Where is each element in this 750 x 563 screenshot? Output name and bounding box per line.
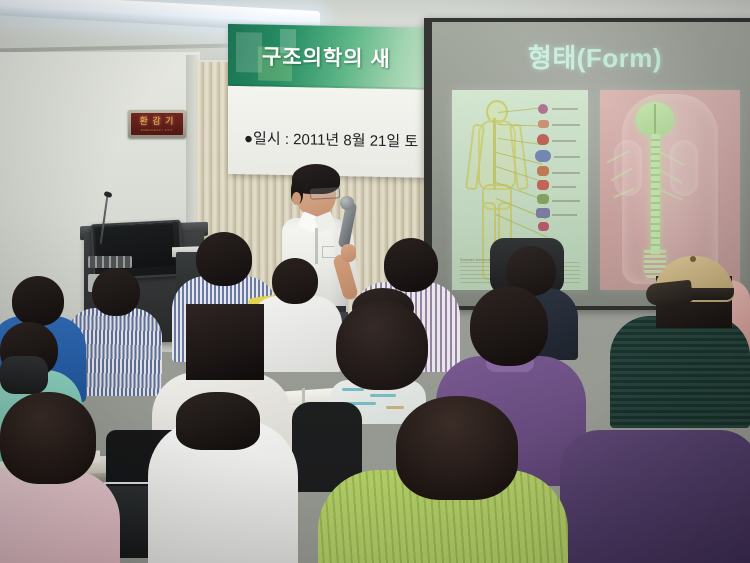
- scarf-motif: [386, 406, 404, 409]
- wall-sign-sublabel: EMERGENCY EXIT: [141, 128, 173, 132]
- attendee-blue-shirt-head: [12, 276, 64, 326]
- attendee-white-top-head: [186, 304, 264, 380]
- wall-sign-label: 환 감 기: [140, 117, 175, 126]
- wall-sign-panel: 환 감 기 EMERGENCY EXIT: [131, 113, 183, 135]
- chair-back-left: [0, 356, 48, 394]
- attendee-green-stripe-body: [610, 316, 750, 428]
- wall-sign: 환 감 기 EMERGENCY EXIT: [128, 110, 186, 138]
- attendee-striped-back-head: [196, 232, 252, 286]
- attendee-green-shirt-head: [396, 396, 518, 500]
- speaker-ear: [292, 192, 301, 205]
- banner-date-line: ●일시 : 2011년 8월 21일 토: [244, 127, 454, 152]
- speaker-shirt-placket: [315, 228, 318, 264]
- attendee-purple-shirt-head: [470, 286, 548, 366]
- attendee-checked-shirt-head: [384, 238, 438, 292]
- speaker-glasses-icon: [310, 187, 341, 200]
- speaker-hand: [341, 244, 356, 262]
- lectern-control-knobs: [88, 256, 132, 268]
- attendee-scarf-woman-head: [336, 300, 428, 390]
- attendee-purple-foreground-body: [560, 430, 750, 563]
- scarf-motif: [342, 388, 364, 391]
- attendee-white-foreground-head: [176, 392, 260, 450]
- baseball-cap-button: [690, 256, 696, 262]
- banner-title: 구조의학의 새: [262, 41, 442, 74]
- event-banner: 구조의학의 새 ●일시 : 2011년 8월 21일 토: [228, 24, 443, 178]
- attendee-striped-shirt-head: [92, 268, 140, 316]
- scarf-motif: [370, 394, 396, 397]
- handheld-microphone-head-icon: [340, 196, 354, 210]
- attendee-pink-shirt-body: [0, 470, 120, 563]
- attendee-pink-shirt-head: [0, 392, 96, 484]
- slide-title: 형태(Form): [470, 38, 720, 75]
- attendee-white-shirt-head: [272, 258, 318, 304]
- lecture-hall-photo: 환 감 기 EMERGENCY EXIT 구조의학의 새 ●일시 : 2011년…: [0, 0, 750, 563]
- banner-header-band: 구조의학의 새: [228, 24, 443, 90]
